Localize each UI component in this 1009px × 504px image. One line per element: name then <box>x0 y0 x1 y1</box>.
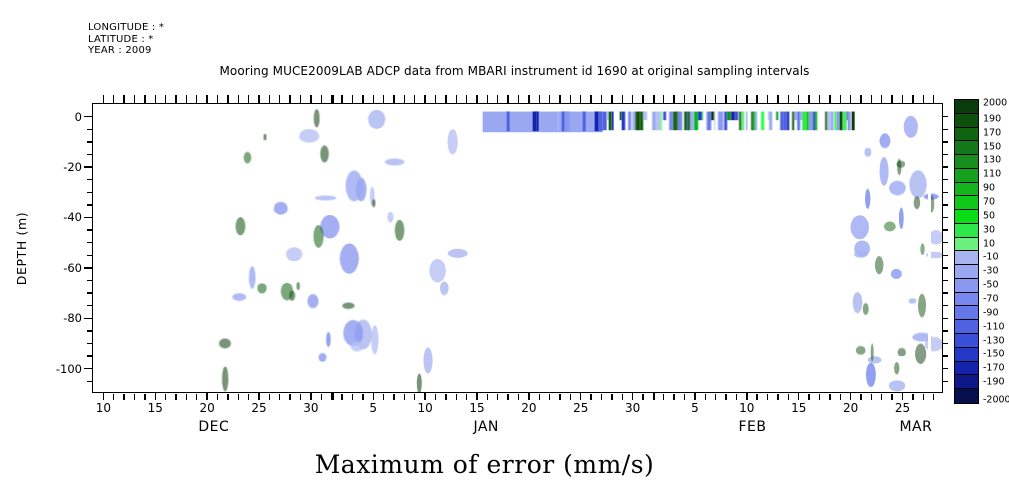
colorbar-tick-label: -110 <box>983 321 1005 332</box>
longitude-label: LONGITUDE : * <box>88 22 164 34</box>
x-axis-tick-bottom <box>798 392 799 400</box>
x-axis-minor-tick-top <box>601 95 602 104</box>
x-axis-minor-tick-bottom <box>404 394 405 400</box>
x-axis-minor-tick-bottom <box>456 394 457 400</box>
x-axis-minor-tick-bottom <box>705 394 706 400</box>
x-axis-minor-tick-top <box>341 95 342 104</box>
x-axis-minor-tick-bottom <box>611 394 612 400</box>
x-axis-minor-tick-bottom <box>715 394 716 400</box>
x-axis-minor-tick-bottom <box>829 394 830 400</box>
x-axis-minor-tick-top <box>144 95 145 104</box>
y-axis-minor-tick <box>87 229 93 230</box>
colorbar-band <box>955 183 978 197</box>
x-axis-tick-bottom <box>580 392 581 400</box>
y-axis-minor-tick-right <box>943 129 948 130</box>
x-axis-minor-tick-top <box>518 95 519 104</box>
x-axis-tick-bottom <box>424 392 425 400</box>
x-axis-minor-tick-bottom <box>539 394 540 400</box>
x-axis-minor-tick-bottom <box>362 394 363 400</box>
colorbar-band <box>955 155 978 169</box>
x-axis-minor-tick-top <box>539 95 540 104</box>
colorbar-tick-label: 150 <box>983 141 1001 152</box>
y-axis-minor-tick <box>87 179 93 180</box>
y-axis-minor-tick <box>87 141 93 142</box>
y-axis-tick-right <box>942 368 948 369</box>
y-axis-tick <box>84 166 93 167</box>
x-axis-minor-tick-bottom <box>279 394 280 400</box>
x-axis-tick-bottom <box>632 392 633 400</box>
x-axis-minor-tick-top <box>549 95 550 104</box>
x-axis-tick-label: 30 <box>625 401 640 415</box>
x-axis-minor-tick-bottom <box>113 394 114 400</box>
x-axis-minor-tick-bottom <box>123 394 124 400</box>
x-axis-tick-label: 10 <box>739 401 754 415</box>
x-axis-minor-tick-bottom <box>923 394 924 400</box>
x-axis-minor-tick-top <box>788 95 789 104</box>
heatmap-data-field <box>93 104 942 392</box>
colorbar-band <box>955 238 978 252</box>
x-axis-minor-tick-bottom <box>891 394 892 400</box>
x-axis-minor-tick-bottom <box>445 394 446 400</box>
x-axis-minor-tick-top <box>466 95 467 104</box>
x-axis-minor-tick-bottom <box>767 394 768 400</box>
chart-bottom-title: Maximum of error (mm/s) <box>0 450 1009 479</box>
x-axis-minor-tick-bottom <box>881 394 882 400</box>
y-axis-tick-label: -80 <box>63 311 82 325</box>
x-axis-minor-tick-top <box>819 95 820 104</box>
x-axis-minor-tick-bottom <box>497 394 498 400</box>
x-axis-tick-bottom <box>310 392 311 400</box>
colorbar-band <box>955 293 978 307</box>
x-axis-tick-label: 5 <box>369 401 377 415</box>
y-axis-minor-tick <box>87 192 93 193</box>
x-axis-minor-tick-top <box>414 95 415 104</box>
x-axis-minor-tick-bottom <box>860 394 861 400</box>
x-axis-minor-tick-top <box>456 95 457 104</box>
colorbar-tick-label: -2000 <box>983 395 1009 406</box>
colorbar-band <box>955 334 978 348</box>
x-axis-minor-tick-top <box>705 95 706 104</box>
y-axis-title-label: DEPTH (m) <box>15 211 30 284</box>
x-axis-tick-label: 20 <box>521 401 536 415</box>
x-axis-minor-tick-top <box>808 95 809 104</box>
x-axis-tick-bottom <box>746 392 747 400</box>
y-axis-minor-tick <box>87 292 93 293</box>
colorbar-band <box>955 320 978 334</box>
x-axis-minor-tick-bottom <box>601 394 602 400</box>
y-axis-tick-right <box>942 267 948 268</box>
y-axis-minor-tick-right <box>943 229 948 230</box>
x-axis-minor-tick-bottom <box>777 394 778 400</box>
x-axis-minor-tick-top <box>321 95 322 104</box>
colorbar-band <box>955 210 978 224</box>
x-axis-tick-top <box>310 95 311 104</box>
x-axis-minor-tick-top <box>725 95 726 104</box>
y-axis-minor-tick-right <box>943 305 948 306</box>
x-axis-minor-tick-top <box>113 95 114 104</box>
x-axis-minor-tick-top <box>642 95 643 104</box>
x-axis-minor-tick-top <box>840 95 841 104</box>
x-axis-tick-bottom <box>694 392 695 400</box>
x-axis-minor-tick-top <box>362 95 363 104</box>
x-axis-minor-tick-bottom <box>725 394 726 400</box>
x-axis-minor-tick-top <box>352 95 353 104</box>
x-axis-tick-top <box>424 95 425 104</box>
colorbar <box>954 99 979 404</box>
x-axis-tick-top <box>694 95 695 104</box>
y-axis-tick-right <box>942 116 948 117</box>
colorbar-tick-label: 130 <box>983 155 1001 166</box>
colorbar-tick-label: -70 <box>983 294 999 305</box>
colorbar-tick-label: -150 <box>983 349 1005 360</box>
y-axis-minor-tick-right <box>943 154 948 155</box>
x-axis-minor-tick-bottom <box>570 394 571 400</box>
x-axis-minor-tick-bottom <box>559 394 560 400</box>
x-axis-minor-tick-bottom <box>341 394 342 400</box>
x-axis-tick-top <box>258 95 259 104</box>
x-axis-tick-label: 25 <box>895 401 910 415</box>
colorbar-band <box>955 251 978 265</box>
x-axis-tick-label: 20 <box>200 401 215 415</box>
x-axis-minor-tick-top <box>383 95 384 104</box>
colorbar-tick-label: -30 <box>983 266 999 277</box>
y-axis-minor-tick-right <box>943 242 948 243</box>
x-axis-tick-top <box>373 95 374 104</box>
x-axis-minor-tick-bottom <box>352 394 353 400</box>
x-axis-minor-tick-bottom <box>238 394 239 400</box>
y-axis-minor-tick-right <box>943 280 948 281</box>
colorbar-tick-label: 30 <box>983 224 995 235</box>
x-axis-minor-tick-bottom <box>756 394 757 400</box>
colorbar-tick-label: 90 <box>983 183 995 194</box>
x-axis-minor-tick-top <box>622 95 623 104</box>
x-axis-minor-tick-bottom <box>196 394 197 400</box>
y-axis-minor-tick <box>87 129 93 130</box>
x-axis-tick-label: 15 <box>791 401 806 415</box>
x-axis-tick-top <box>155 95 156 104</box>
y-axis-minor-tick-right <box>943 255 948 256</box>
x-axis-minor-tick-top <box>196 95 197 104</box>
y-axis-tick-label: 0 <box>75 110 82 124</box>
y-axis-tick-right <box>942 217 948 218</box>
colorbar-band <box>955 265 978 279</box>
x-axis-minor-tick-bottom <box>144 394 145 400</box>
y-axis-minor-tick <box>87 381 93 382</box>
x-axis-minor-tick-bottom <box>466 394 467 400</box>
x-axis-minor-tick-bottom <box>808 394 809 400</box>
x-axis-tick-label: 15 <box>148 401 163 415</box>
colorbar-tick-label: 50 <box>983 210 995 221</box>
x-axis-minor-tick-bottom <box>549 394 550 400</box>
x-axis-minor-tick-top <box>912 95 913 104</box>
x-axis-minor-tick-top <box>175 95 176 104</box>
x-axis-minor-tick-bottom <box>684 394 685 400</box>
x-axis-tick-label: 10 <box>96 401 111 415</box>
x-axis-minor-tick-top <box>767 95 768 104</box>
x-axis-minor-tick-top <box>871 95 872 104</box>
y-axis-minor-tick <box>87 154 93 155</box>
x-axis-month-label: FEB <box>739 419 767 435</box>
x-axis-minor-tick-bottom <box>186 394 187 400</box>
colorbar-tick-label: 2000 <box>983 98 1007 109</box>
y-axis-minor-tick-right <box>943 179 948 180</box>
x-axis-minor-tick-bottom <box>933 394 934 400</box>
x-axis-tick-top <box>580 95 581 104</box>
x-axis-tick-label: 25 <box>251 401 266 415</box>
x-axis-minor-tick-top <box>393 95 394 104</box>
x-axis-minor-tick-top <box>487 95 488 104</box>
y-axis-tick-label: -100 <box>56 362 82 376</box>
x-axis-minor-tick-top <box>590 95 591 104</box>
colorbar-band <box>955 306 978 320</box>
x-axis-minor-tick-bottom <box>663 394 664 400</box>
x-axis-minor-tick-top <box>570 95 571 104</box>
x-axis-minor-tick-bottom <box>912 394 913 400</box>
x-axis-minor-tick-bottom <box>175 394 176 400</box>
y-axis-tick-right <box>942 318 948 319</box>
x-axis-minor-tick-bottom <box>788 394 789 400</box>
x-axis-tick-label: 5 <box>691 401 699 415</box>
x-axis-month-boundary-tick-bottom <box>653 392 656 400</box>
x-axis-minor-tick-top <box>933 95 934 104</box>
x-axis-tick-top <box>746 95 747 104</box>
x-axis-minor-tick-bottom <box>134 394 135 400</box>
x-axis-minor-tick-top <box>435 95 436 104</box>
x-axis-tick-bottom <box>528 392 529 400</box>
x-axis-minor-tick-top <box>123 95 124 104</box>
x-axis-minor-tick-bottom <box>383 394 384 400</box>
x-axis-minor-tick-bottom <box>840 394 841 400</box>
colorbar-band <box>955 114 978 128</box>
x-axis-minor-tick-bottom <box>165 394 166 400</box>
colorbar-band <box>955 196 978 210</box>
x-axis-tick-top <box>476 95 477 104</box>
y-axis-minor-tick <box>87 330 93 331</box>
colorbar-tick-label: -130 <box>983 335 1005 346</box>
x-axis-minor-tick-top <box>404 95 405 104</box>
y-axis-minor-tick <box>87 255 93 256</box>
x-axis-tick-top <box>632 95 633 104</box>
y-axis-tick-right <box>942 166 948 167</box>
x-axis-minor-tick-bottom <box>300 394 301 400</box>
colorbar-tick-label: 70 <box>983 196 995 207</box>
colorbar-band <box>955 279 978 293</box>
x-axis-minor-tick-bottom <box>414 394 415 400</box>
y-axis-tick-label: -60 <box>63 261 82 275</box>
x-axis-tick-label: 10 <box>417 401 432 415</box>
colorbar-tick-label: -10 <box>983 252 999 263</box>
y-axis-minor-tick <box>87 355 93 356</box>
x-axis-minor-tick-bottom <box>871 394 872 400</box>
x-axis-minor-tick-bottom <box>736 394 737 400</box>
x-axis-minor-tick-top <box>507 95 508 104</box>
x-axis-tick-label: 30 <box>303 401 318 415</box>
x-axis-minor-tick-top <box>715 95 716 104</box>
x-axis-minor-tick-top <box>300 95 301 104</box>
x-axis-minor-tick-bottom <box>487 394 488 400</box>
x-axis-minor-tick-top <box>684 95 685 104</box>
chart-title: Mooring MUCE2009LAB ADCP data from MBARI… <box>0 64 1009 78</box>
x-axis-minor-tick-top <box>134 95 135 104</box>
x-axis-minor-tick-bottom <box>507 394 508 400</box>
heatmap-plot-area: -100-80-60-40-20010152025305101520253051… <box>92 103 943 393</box>
y-axis-minor-tick-right <box>943 204 948 205</box>
colorbar-band <box>955 224 978 238</box>
colorbar-tick-label: -90 <box>983 307 999 318</box>
y-axis-tick <box>84 368 93 369</box>
x-axis-minor-tick-top <box>248 95 249 104</box>
x-axis-tick-bottom <box>155 392 156 400</box>
x-axis-tick-bottom <box>373 392 374 400</box>
x-axis-minor-tick-top <box>186 95 187 104</box>
x-axis-minor-tick-top <box>756 95 757 104</box>
x-axis-tick-bottom <box>258 392 259 400</box>
colorbar-band <box>955 375 978 389</box>
x-axis-tick-label: 15 <box>469 401 484 415</box>
colorbar-tick-label: 110 <box>983 169 1001 180</box>
metadata-header: LONGITUDE : * LATITUDE : * YEAR : 2009 <box>88 22 164 57</box>
x-axis-minor-tick-bottom <box>227 394 228 400</box>
x-axis-minor-tick-bottom <box>642 394 643 400</box>
x-axis-minor-tick-top <box>289 95 290 104</box>
x-axis-minor-tick-bottom <box>622 394 623 400</box>
x-axis-minor-tick-bottom <box>673 394 674 400</box>
x-axis-minor-tick-top <box>279 95 280 104</box>
x-axis-minor-tick-top <box>269 95 270 104</box>
x-axis-minor-tick-bottom <box>435 394 436 400</box>
colorbar-band <box>955 348 978 362</box>
x-axis-minor-tick-bottom <box>590 394 591 400</box>
x-axis-minor-tick-top <box>673 95 674 104</box>
x-axis-minor-tick-bottom <box>248 394 249 400</box>
x-axis-minor-tick-top <box>445 95 446 104</box>
colorbar-tick-label: 170 <box>983 127 1001 138</box>
x-axis-minor-tick-bottom <box>393 394 394 400</box>
y-axis-title: DEPTH (m) <box>14 103 30 393</box>
x-axis-minor-tick-top <box>881 95 882 104</box>
x-axis-minor-tick-top <box>217 95 218 104</box>
x-axis-minor-tick-top <box>611 95 612 104</box>
x-axis-minor-tick-top <box>165 95 166 104</box>
x-axis-month-boundary-tick-bottom <box>331 392 334 400</box>
y-axis-minor-tick-right <box>943 292 948 293</box>
y-axis-tick <box>84 267 93 268</box>
y-axis-tick <box>84 318 93 319</box>
x-axis-tick-top <box>206 95 207 104</box>
x-axis-tick-top <box>798 95 799 104</box>
y-axis-minor-tick <box>87 305 93 306</box>
x-axis-minor-tick-top <box>559 95 560 104</box>
x-axis-minor-tick-top <box>238 95 239 104</box>
x-axis-minor-tick-top <box>497 95 498 104</box>
x-axis-tick-top <box>902 95 903 104</box>
y-axis-minor-tick-right <box>943 141 948 142</box>
x-axis-minor-tick-bottom <box>269 394 270 400</box>
x-axis-tick-bottom <box>850 392 851 400</box>
x-axis-minor-tick-top <box>829 95 830 104</box>
x-axis-minor-tick-top <box>923 95 924 104</box>
colorbar-band <box>955 169 978 183</box>
y-axis-minor-tick-right <box>943 192 948 193</box>
colorbar-band <box>955 100 978 114</box>
colorbar-band <box>955 128 978 142</box>
y-axis-tick <box>84 116 93 117</box>
y-axis-minor-tick-right <box>943 381 948 382</box>
y-axis-minor-tick <box>87 343 93 344</box>
y-axis-minor-tick <box>87 280 93 281</box>
x-axis-minor-tick-bottom <box>518 394 519 400</box>
colorbar-tick-label: -170 <box>983 363 1005 374</box>
y-axis-tick-label: -20 <box>63 160 82 174</box>
x-axis-tick-bottom <box>902 392 903 400</box>
x-axis-month-label: MAR <box>899 419 932 435</box>
y-axis-minor-tick-right <box>943 355 948 356</box>
x-axis-minor-tick-top <box>227 95 228 104</box>
x-axis-minor-tick-bottom <box>819 394 820 400</box>
colorbar-band <box>955 389 978 403</box>
colorbar-tick-label: -190 <box>983 377 1005 388</box>
x-axis-tick-label: 20 <box>843 401 858 415</box>
x-axis-tick-bottom <box>103 392 104 400</box>
x-axis-minor-tick-bottom <box>289 394 290 400</box>
colorbar-band <box>955 141 978 155</box>
x-axis-minor-tick-bottom <box>321 394 322 400</box>
x-axis-tick-top <box>528 95 529 104</box>
x-axis-tick-top <box>103 95 104 104</box>
x-axis-minor-tick-top <box>891 95 892 104</box>
latitude-label: LATITUDE : * <box>88 34 164 46</box>
y-axis-minor-tick-right <box>943 343 948 344</box>
colorbar-tick-label: -50 <box>983 280 999 291</box>
y-axis-minor-tick <box>87 204 93 205</box>
heatmap-canvas-wrapper <box>93 104 942 392</box>
x-axis-month-label: JAN <box>473 419 498 435</box>
x-axis-month-label: DEC <box>198 419 229 435</box>
x-axis-tick-top <box>850 95 851 104</box>
x-axis-minor-tick-top <box>663 95 664 104</box>
y-axis-tick-label: -40 <box>63 210 82 224</box>
x-axis-tick-bottom <box>476 392 477 400</box>
colorbar-tick-label: 190 <box>983 113 1001 124</box>
colorbar-band <box>955 362 978 376</box>
x-axis-minor-tick-top <box>777 95 778 104</box>
x-axis-tick-label: 25 <box>573 401 588 415</box>
x-axis-tick-bottom <box>206 392 207 400</box>
y-axis-tick <box>84 217 93 218</box>
y-axis-minor-tick-right <box>943 330 948 331</box>
x-axis-minor-tick-bottom <box>217 394 218 400</box>
colorbar-tick-label: 10 <box>983 238 995 249</box>
y-axis-minor-tick <box>87 242 93 243</box>
x-axis-minor-tick-top <box>860 95 861 104</box>
year-label: YEAR : 2009 <box>88 45 164 57</box>
x-axis-month-boundary-tick <box>653 95 656 104</box>
x-axis-minor-tick-top <box>736 95 737 104</box>
x-axis-month-boundary-tick <box>331 95 334 104</box>
